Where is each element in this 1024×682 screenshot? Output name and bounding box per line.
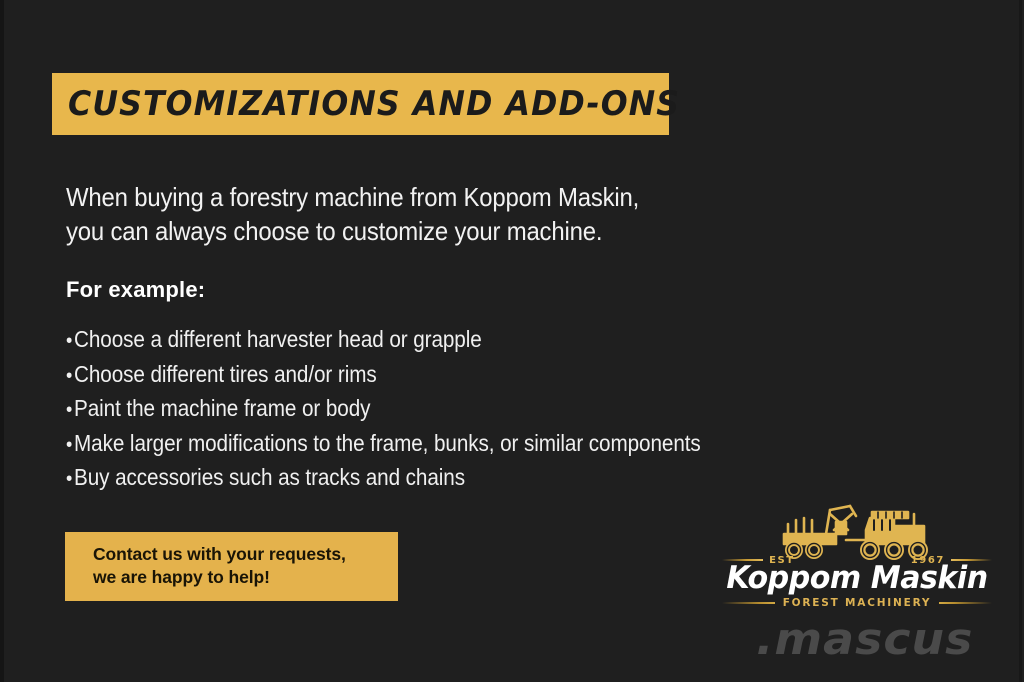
slide-canvas: CUSTOMIZATIONS AND ADD-ONS When buying a…: [0, 0, 1024, 682]
logo-tagline-rule-right: [939, 602, 992, 604]
right-edge-strip: [1019, 0, 1022, 682]
cta-line-1: Contact us with your requests,: [93, 543, 398, 566]
list-item-label: Buy accessories such as tracks and chain…: [74, 460, 465, 495]
bullet-dot-icon: •: [66, 469, 72, 489]
koppom-maskin-logo: EST 1967 Koppom Maskin FOREST MACHINERY: [722, 500, 992, 612]
for-example-heading: For example:: [66, 277, 205, 303]
title-band: CUSTOMIZATIONS AND ADD-ONS: [52, 73, 669, 135]
intro-line-2: you can always choose to customize your …: [66, 214, 728, 248]
list-item-label: Paint the machine frame or body: [74, 391, 370, 426]
list-item: • Make larger modifications to the frame…: [66, 426, 750, 461]
list-item: • Choose different tires and/or rims: [66, 357, 750, 392]
bullet-dot-icon: •: [66, 366, 72, 386]
customization-options-list: • Choose a different harvester head or g…: [66, 322, 750, 495]
list-item-label: Choose a different harvester head or gra…: [74, 322, 482, 357]
left-edge-strip: [0, 0, 4, 682]
list-item-label: Make larger modifications to the frame, …: [74, 426, 701, 461]
mascus-watermark: .mascus: [756, 616, 973, 664]
intro-paragraph: When buying a forestry machine from Kopp…: [66, 180, 728, 248]
contact-us-button[interactable]: Contact us with your requests, we are ha…: [65, 532, 398, 601]
logo-brand-name: Koppom Maskin: [726, 560, 988, 596]
page-title: CUSTOMIZATIONS AND ADD-ONS: [68, 87, 680, 121]
bullet-dot-icon: •: [66, 400, 72, 420]
logo-tagline-row: FOREST MACHINERY: [722, 596, 992, 610]
intro-line-1: When buying a forestry machine from Kopp…: [66, 180, 728, 214]
list-item-label: Choose different tires and/or rims: [74, 357, 377, 392]
logo-tagline: FOREST MACHINERY: [783, 597, 932, 609]
list-item: • Buy accessories such as tracks and cha…: [66, 460, 750, 495]
logo-tagline-rule-left: [722, 602, 775, 604]
cta-line-2: we are happy to help!: [93, 566, 398, 589]
bullet-dot-icon: •: [66, 331, 72, 351]
list-item: • Choose a different harvester head or g…: [66, 322, 750, 357]
list-item: • Paint the machine frame or body: [66, 391, 750, 426]
bullet-dot-icon: •: [66, 435, 72, 455]
